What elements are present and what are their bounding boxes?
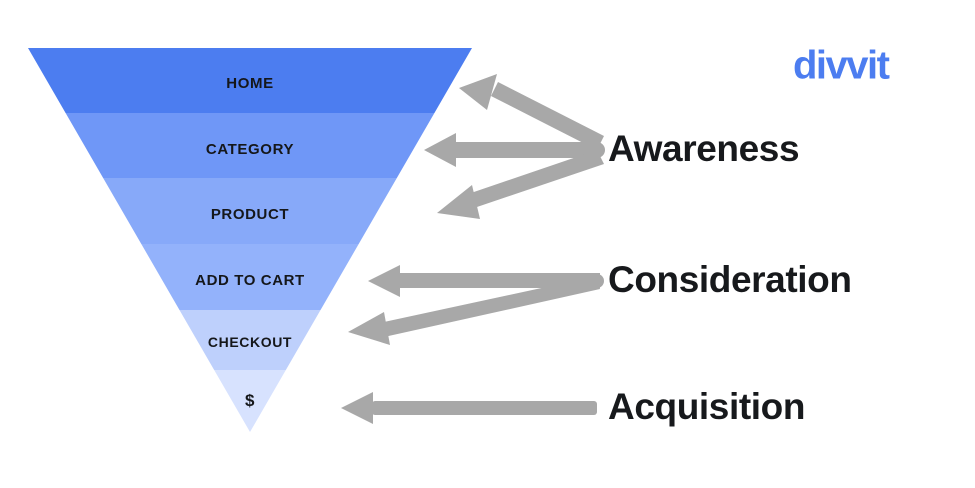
phase-label-acquisition: Acquisition	[608, 386, 805, 427]
funnel-label-product: PRODUCT	[211, 206, 289, 223]
funnel-diagram: HOME CATEGORY PRODUCT ADD TO CART CHECKO…	[0, 0, 975, 488]
funnel-label-checkout: CHECKOUT	[208, 334, 292, 350]
funnel-label-home: HOME	[226, 75, 273, 92]
brand-logo[interactable]: divvit	[793, 44, 890, 88]
phase-label-consideration: Consideration	[608, 259, 852, 300]
awareness-arrow-product	[437, 150, 604, 219]
phase-label-awareness: Awareness	[608, 128, 799, 169]
awareness-arrow-group	[424, 74, 605, 219]
funnel-label-add-to-cart: ADD TO CART	[195, 272, 305, 289]
funnel-bands	[20, 48, 480, 438]
brand-logo-label: divvit	[793, 44, 890, 88]
funnel-diagram-canvas: HOME CATEGORY PRODUCT ADD TO CART CHECKO…	[0, 0, 975, 488]
consideration-arrow-group	[348, 265, 604, 345]
funnel-label-category: CATEGORY	[206, 141, 294, 158]
awareness-arrow-home	[459, 74, 604, 150]
acquisition-arrow-group	[341, 392, 597, 424]
funnel-label-revenue: $	[245, 391, 255, 410]
